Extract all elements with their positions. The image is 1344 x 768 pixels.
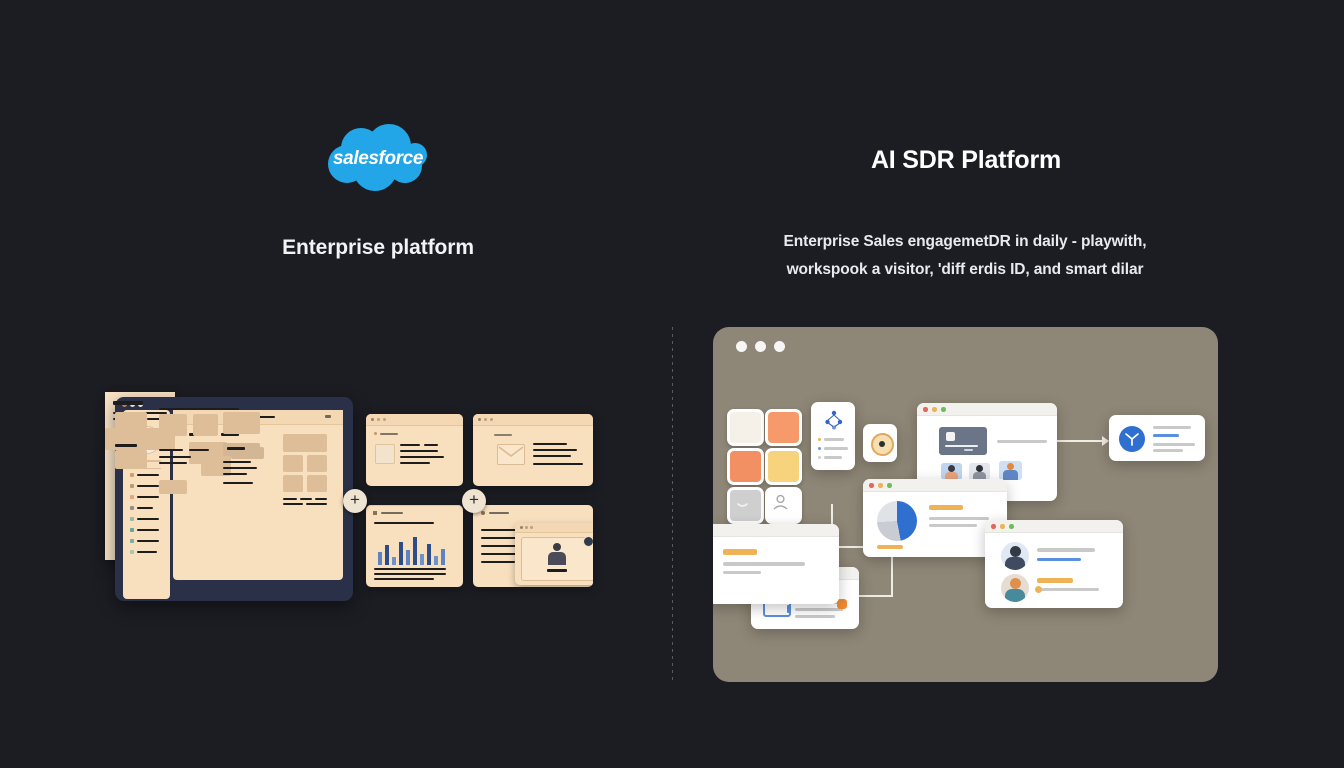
avatar-tile-3[interactable]: [999, 461, 1022, 480]
card-minimize-dot[interactable]: [878, 483, 883, 488]
right-panel-title: AI SDR Platform: [672, 146, 1260, 175]
left-panel-title: Enterprise platform: [0, 236, 756, 260]
globe-icon: [1119, 426, 1145, 452]
swatch-tile-2[interactable]: [765, 409, 802, 446]
workflow-card[interactable]: [811, 402, 855, 470]
avatar-tile-2[interactable]: [969, 463, 990, 480]
salesforce-wordmark: salesforce: [323, 122, 433, 194]
lead-avatar-1[interactable]: [1001, 542, 1029, 570]
coin-icon: [871, 433, 894, 456]
swatch-tile-1[interactable]: [727, 409, 764, 446]
swatch-tile-5-smile[interactable]: [727, 487, 764, 524]
plus-badge-two[interactable]: +: [462, 489, 486, 513]
token-card[interactable]: [863, 424, 897, 462]
layout-icon: [375, 444, 395, 464]
card-maximize-dot[interactable]: [941, 407, 946, 412]
pie-chart-icon: [877, 501, 917, 541]
profile-preview-card[interactable]: [515, 523, 593, 585]
subtitle-line-2: workspook a visitor, 'diff erdis ID, and…: [734, 256, 1196, 284]
target-card[interactable]: [1109, 415, 1205, 461]
leads-card[interactable]: [985, 520, 1123, 608]
network-nodes-icon: [824, 410, 844, 430]
arrow-right-head: [1102, 436, 1109, 446]
settings-badge-icon[interactable]: [583, 536, 593, 547]
workspace-minimize-dot[interactable]: [755, 341, 766, 352]
workspace-maximize-dot[interactable]: [774, 341, 785, 352]
subtitle-line-1: Enterprise Sales engagemetDR in daily - …: [734, 228, 1196, 256]
app-window-card[interactable]: [366, 414, 463, 486]
card-maximize-dot[interactable]: [887, 483, 892, 488]
card-minimize-dot[interactable]: [932, 407, 937, 412]
card-minimize-dot[interactable]: [1000, 524, 1005, 529]
lead-avatar-2[interactable]: [1001, 574, 1029, 602]
swatch-tile-3[interactable]: [727, 448, 764, 485]
analytics-card[interactable]: [366, 505, 463, 587]
bar-chart-icon: [378, 535, 450, 565]
enterprise-dashboard-illustration: +: [105, 392, 605, 632]
email-card[interactable]: [473, 414, 593, 486]
contact-card[interactable]: [473, 505, 593, 587]
ai-sdr-workspace-illustration: [713, 327, 1218, 682]
panel-divider: [672, 327, 673, 682]
workspace-close-dot[interactable]: [736, 341, 747, 352]
card-maximize-dot[interactable]: [1009, 524, 1014, 529]
card-close-dot[interactable]: [991, 524, 996, 529]
swatch-tile-6-person[interactable]: [765, 487, 802, 524]
slide-canvas: salesforce Enterprise platform AI SDR Pl…: [0, 0, 1344, 768]
card-close-dot[interactable]: [923, 407, 928, 412]
status-badge: [837, 599, 847, 609]
swatch-tile-4[interactable]: [765, 448, 802, 485]
right-panel-subtitle: Enterprise Sales engagemetDR in daily - …: [734, 228, 1196, 284]
video-tile-icon: [939, 427, 987, 455]
envelope-icon: [497, 444, 525, 465]
avatar-tile-1[interactable]: [941, 463, 962, 480]
side-note-card[interactable]: [713, 524, 839, 604]
card-close-dot[interactable]: [869, 483, 874, 488]
salesforce-logo: salesforce: [323, 122, 433, 194]
person-avatar-icon: [547, 543, 567, 565]
plus-badge-one[interactable]: +: [343, 489, 367, 513]
